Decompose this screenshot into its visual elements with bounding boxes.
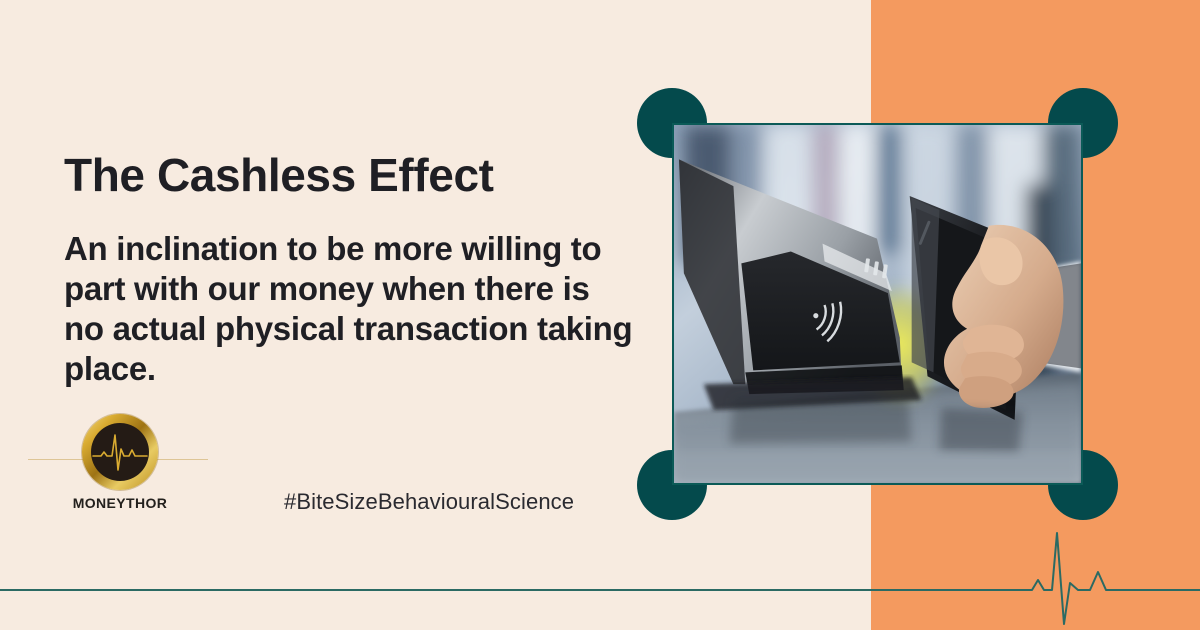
photo-module	[672, 123, 1083, 485]
heartbeat-coin-icon	[82, 414, 158, 490]
photo-frame	[672, 123, 1083, 485]
text-block: The Cashless Effect An inclination to be…	[64, 150, 644, 390]
brand-name: MONEYTHOR	[66, 496, 174, 510]
page-title: The Cashless Effect	[64, 150, 644, 201]
logo-inner-disc	[91, 423, 149, 481]
page-subtitle: An inclination to be more willing to par…	[64, 229, 634, 390]
hashtag-label: #BiteSizeBehaviouralScience	[284, 489, 574, 515]
poster-canvas: The Cashless Effect An inclination to be…	[0, 0, 1200, 630]
brand-logo: MONEYTHOR	[66, 414, 174, 510]
